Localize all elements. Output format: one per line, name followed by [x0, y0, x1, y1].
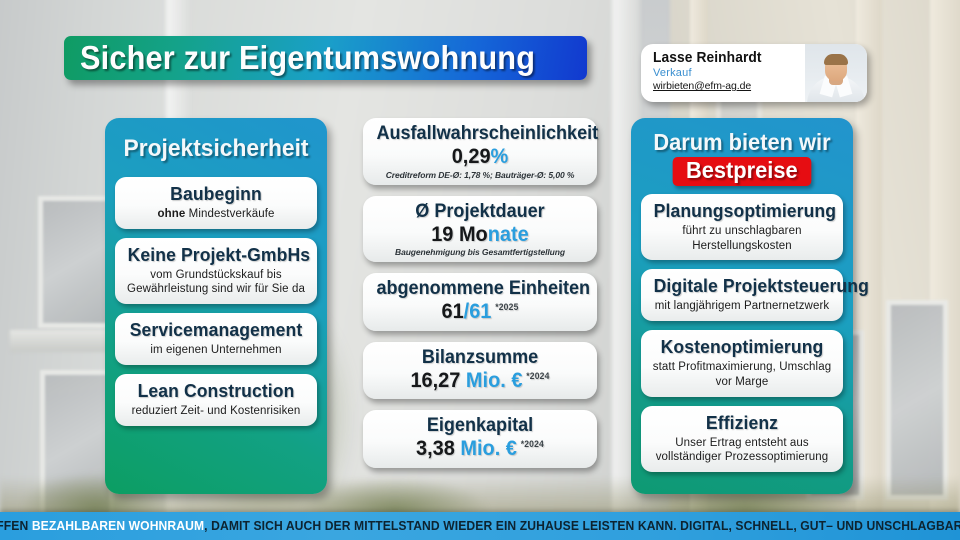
stat-superscript: *2024: [521, 439, 544, 449]
stat-card-bilanzsumme[interactable]: Bilanzsumme 16,27 Mio. €*2024: [363, 342, 597, 400]
stat-value-blue: %: [491, 145, 509, 168]
stat-footnote: Baugenehmigung bis Gesamtfertigstellung: [371, 247, 589, 257]
card-subtitle: ohne Mindestverkäufe: [123, 207, 309, 222]
card-subtitle-bold: ohne: [157, 208, 185, 220]
stat-footnote: Creditreform DE-Ø: 1,78 %; Bauträger-Ø: …: [371, 170, 589, 180]
slide-canvas: Sicher zur Eigentumswohnung Lasse Reinha…: [0, 0, 960, 540]
card-subtitle: reduziert Zeit- und Kostenrisiken: [123, 404, 309, 419]
list-item[interactable]: Lean Construction reduziert Zeit- und Ko…: [115, 374, 317, 426]
card-subtitle: mit langjährigem Partnernetzwerk: [649, 299, 835, 314]
card-subtitle: vom Grundstückskauf bis Gewährleistung s…: [123, 268, 309, 297]
stat-value: 16,27 Mio. €*2024: [376, 369, 583, 393]
card-title: Planungsoptimierung: [654, 200, 831, 222]
page-title-banner: Sicher zur Eigentumswohnung: [64, 36, 587, 80]
stat-title: abgenommene Einheiten: [376, 278, 583, 300]
card-subtitle: Unser Ertrag entsteht aus vollständiger …: [649, 436, 835, 465]
stat-value: 3,38 Mio. €*2024: [376, 437, 583, 461]
list-item[interactable]: Kostenoptimierung statt Profitmaximierun…: [641, 330, 843, 396]
page-title: Sicher zur Eigentumswohnung: [80, 39, 535, 77]
stat-superscript: *2025: [495, 302, 518, 312]
card-title: Lean Construction: [128, 380, 305, 402]
card-title: Digitale Projektsteuerung: [654, 275, 831, 297]
stat-value-dark: 0,29: [452, 145, 491, 168]
stat-title: Eigenkapital: [376, 415, 583, 437]
list-item[interactable]: Effizienz Unser Ertrag entsteht aus voll…: [641, 406, 843, 472]
right-panel-heading: Darum bieten wir: [646, 118, 838, 157]
contact-card[interactable]: Lasse Reinhardt Verkauf wirbieten@efm-ag…: [641, 44, 867, 102]
stat-value-blue: Mio. €: [460, 369, 522, 392]
stat-value-blue: nate: [488, 223, 529, 246]
avatar: [805, 44, 867, 102]
stat-card-eigenkapital[interactable]: Eigenkapital 3,38 Mio. €*2024: [363, 410, 597, 468]
list-item[interactable]: Baubeginn ohne Mindestverkäufe: [115, 177, 317, 229]
panel-bestpreise: Darum bieten wir Bestpreise Planungsopti…: [631, 118, 853, 494]
card-subtitle: führt zu unschlagbaren Herstellungskoste…: [649, 224, 835, 253]
footer-part1: „WIR SCHAFFEN: [0, 519, 32, 533]
card-title: Servicemanagement: [128, 319, 305, 341]
stat-value-blue: /61: [464, 300, 492, 323]
card-subtitle: im eigenen Unternehmen: [123, 343, 309, 358]
center-stat-column: Ausfallwahrscheinlichkeit 0,29% Creditre…: [363, 118, 597, 479]
list-item[interactable]: Digitale Projektsteuerung mit langjährig…: [641, 269, 843, 321]
footer-banner: „WIR SCHAFFEN BEZAHLBAREN WOHNRAUM, DAMI…: [0, 512, 960, 540]
stat-value-blue: Mio. €: [455, 437, 517, 460]
stat-value: 61/61*2025: [376, 300, 583, 324]
panel-projektsicherheit: Projektsicherheit Baubeginn ohne Mindest…: [105, 118, 327, 494]
footer-quote: „WIR SCHAFFEN BEZAHLBAREN WOHNRAUM, DAMI…: [0, 519, 960, 533]
card-title: Baubeginn: [128, 183, 305, 205]
stat-value-dark: 3,38: [416, 437, 455, 460]
stat-superscript: *2024: [526, 371, 549, 381]
stat-value-dark: 19 Mo: [431, 223, 488, 246]
card-subtitle-rest: Mindestverkäufe: [185, 208, 274, 220]
card-title: Keine Projekt-GmbHs: [128, 244, 305, 266]
contact-details: Lasse Reinhardt Verkauf wirbieten@efm-ag…: [641, 44, 805, 102]
stat-value-dark: 61: [441, 300, 463, 323]
contact-email-link[interactable]: wirbieten@efm-ag.de: [653, 80, 805, 92]
stat-card-abgenommene-einheiten[interactable]: abgenommene Einheiten 61/61*2025: [363, 273, 597, 331]
stat-value: 19 Monate: [376, 223, 583, 247]
list-item[interactable]: Keine Projekt-GmbHs vom Grundstückskauf …: [115, 238, 317, 304]
badge-container: Bestpreise: [641, 157, 843, 186]
stat-title: Ø Projektdauer: [376, 201, 583, 223]
contact-role: Verkauf: [653, 67, 805, 79]
footer-part2: , DAMIT SICH AUCH DER MITTELSTAND WIEDER…: [204, 519, 960, 533]
stat-title: Bilanzsumme: [376, 347, 583, 369]
card-subtitle: statt Profitmaximierung, Umschlag vor Ma…: [649, 360, 835, 389]
stat-value-dark: 16,27: [410, 369, 460, 392]
stat-card-ausfallwahrscheinlichkeit[interactable]: Ausfallwahrscheinlichkeit 0,29% Creditre…: [363, 118, 597, 185]
list-item[interactable]: Planungsoptimierung führt zu unschlagbar…: [641, 194, 843, 260]
left-panel-heading: Projektsicherheit: [120, 118, 312, 177]
contact-name: Lasse Reinhardt: [653, 50, 797, 66]
stat-title: Ausfallwahrscheinlichkeit: [376, 123, 583, 145]
footer-highlight: BEZAHLBAREN WOHNRAUM: [32, 519, 204, 533]
stat-card-projektdauer[interactable]: Ø Projektdauer 19 Monate Baugenehmigung …: [363, 196, 597, 263]
card-title: Effizienz: [654, 412, 831, 434]
status-badge: Bestpreise: [673, 157, 811, 186]
list-item[interactable]: Servicemanagement im eigenen Unternehmen: [115, 313, 317, 365]
stat-value: 0,29%: [376, 145, 583, 169]
card-title: Kostenoptimierung: [654, 336, 831, 358]
